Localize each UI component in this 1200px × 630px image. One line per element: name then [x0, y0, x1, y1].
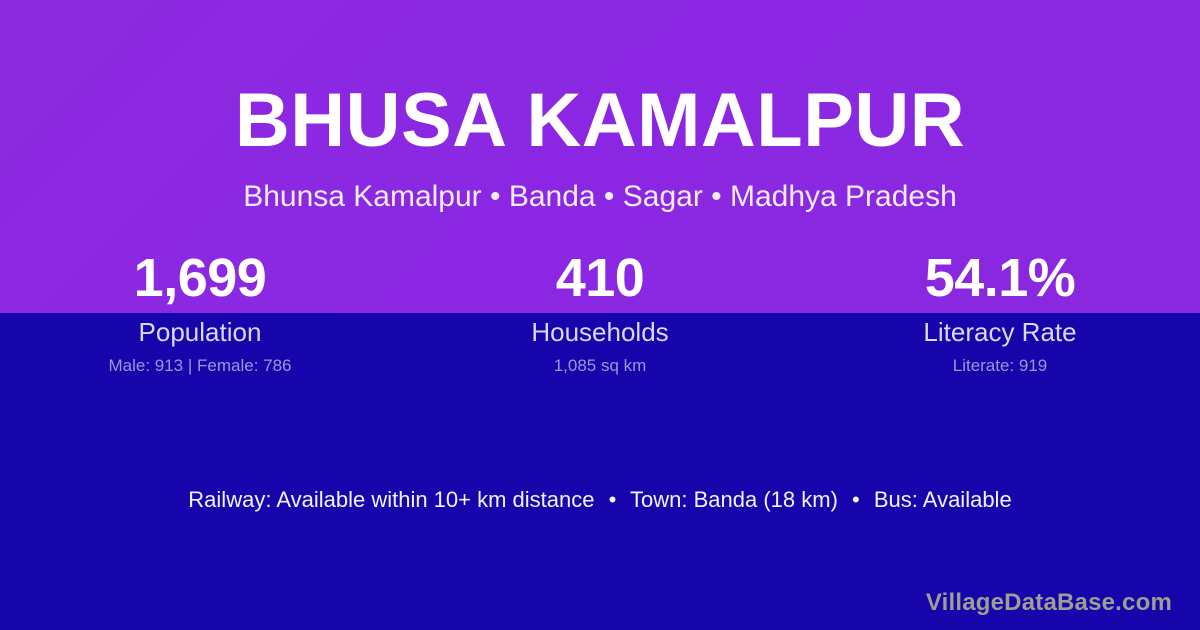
stat-label: Population — [0, 317, 400, 347]
stat-label: Households — [400, 317, 800, 347]
stat-sublabel: Literate: 919 — [800, 356, 1200, 376]
stat-literacy-rate: 54.1% Literacy Rate Literate: 919 — [800, 250, 1200, 376]
stat-value: 54.1% — [800, 250, 1200, 306]
facility-railway: Railway: Available within 10+ km distanc… — [188, 487, 594, 512]
stat-value: 410 — [400, 250, 800, 306]
breadcrumb: Bhunsa Kamalpur • Banda • Sagar • Madhya… — [0, 182, 1200, 212]
facility-separator-icon: • — [601, 487, 625, 512]
page-title: BHUSA KAMALPUR — [0, 83, 1200, 159]
village-info-card: BHUSA KAMALPUR Bhunsa Kamalpur • Banda •… — [0, 0, 1200, 630]
stat-population: 1,699 Population Male: 913 | Female: 786 — [0, 250, 400, 376]
site-watermark: VillageDataBase.com — [926, 589, 1172, 617]
facility-info-line: Railway: Available within 10+ km distanc… — [0, 487, 1200, 513]
facility-town: Town: Banda (18 km) — [630, 487, 838, 512]
stat-households: 410 Households 1,085 sq km — [400, 250, 800, 376]
stats-row: 1,699 Population Male: 913 | Female: 786… — [0, 250, 1200, 376]
stat-label: Literacy Rate — [800, 317, 1200, 347]
stat-value: 1,699 — [0, 250, 400, 306]
stat-sublabel: 1,085 sq km — [400, 356, 800, 376]
facility-bus: Bus: Available — [874, 487, 1012, 512]
facility-separator-icon: • — [844, 487, 868, 512]
stat-sublabel: Male: 913 | Female: 786 — [0, 356, 400, 376]
